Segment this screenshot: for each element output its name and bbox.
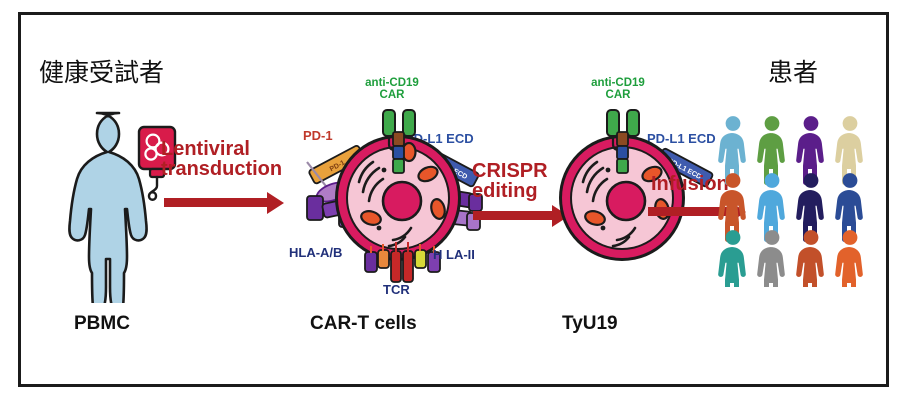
arrow-label-lentiviral-line2: transduction xyxy=(161,159,282,179)
stage-label-cart: CAR-T cells xyxy=(310,313,417,335)
healthy-subject-title: 健康受試者 xyxy=(39,53,164,89)
stage-label-pbmc: PBMC xyxy=(74,313,130,335)
arrow-label-lentiviral-line1: Lentiviral xyxy=(161,139,282,159)
marker-label-hla-ii: H LA-II xyxy=(433,247,475,262)
marker-label-hla-ab: HLA-A/B xyxy=(289,245,342,260)
marker-label-tcr: TCR xyxy=(383,282,410,297)
stage-label-tyu19: TyU19 xyxy=(562,313,618,335)
arrow-label-lentiviral: Lentiviral transduction xyxy=(161,139,282,180)
figure-frame: 健康受試者 PBMC Lentiviral transduction anti-… xyxy=(18,12,889,387)
patients-group xyxy=(717,115,879,287)
patients-title: 患者 xyxy=(768,53,818,89)
